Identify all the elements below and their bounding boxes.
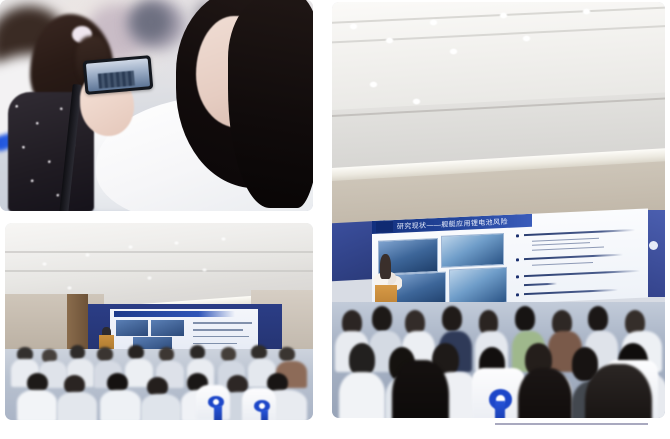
photo-collage: 研究现状——舰艇应用锂电池风险 xyxy=(0,0,670,439)
audience-head xyxy=(221,347,236,361)
chair-ribbon xyxy=(261,410,269,420)
ceiling-band-1 xyxy=(5,251,313,253)
foreground-attendee-head xyxy=(518,368,571,418)
slide-photo-warship-4 xyxy=(449,267,506,306)
photo-audience-filming[interactable] xyxy=(0,0,313,211)
audience-body xyxy=(100,390,140,420)
audience-head xyxy=(515,306,535,331)
downlight xyxy=(85,253,90,257)
photo-hall-slide[interactable]: 研究现状——舰艇应用锂电池风险 xyxy=(332,2,665,418)
ceiling-spotlight xyxy=(582,8,591,15)
bullet-marker xyxy=(516,234,519,237)
speaker-at-podium xyxy=(380,254,391,279)
background-head-c xyxy=(130,2,172,42)
slide-title-bar xyxy=(114,311,235,317)
audience-body xyxy=(141,394,181,420)
stage-decoration-dot xyxy=(649,241,658,250)
audience-head xyxy=(279,347,294,361)
audience-body xyxy=(57,392,97,420)
smartphone xyxy=(83,55,154,95)
audience-head xyxy=(372,306,392,331)
bullet-text-4 xyxy=(524,288,618,294)
audience-body xyxy=(17,390,57,420)
photo-hall-wide[interactable] xyxy=(5,223,313,420)
ceiling-spotlight xyxy=(349,23,358,30)
ceiling-spotlight xyxy=(369,81,378,88)
bottom-divider xyxy=(495,423,648,425)
phone-screen xyxy=(86,58,150,91)
scene-hall-wide xyxy=(5,223,313,420)
bullet-text-3 xyxy=(524,269,640,276)
slide-bullet-2 xyxy=(193,329,243,331)
downlight xyxy=(221,237,226,241)
slide-bullet-4 xyxy=(193,343,237,345)
bullet-subtext xyxy=(532,237,598,241)
slide-image-2 xyxy=(151,320,184,335)
slide-photo-warship-2 xyxy=(441,233,504,268)
bullet-subtext xyxy=(532,242,590,246)
bullet-marker xyxy=(516,275,519,278)
audience-head xyxy=(159,347,174,361)
audience-body xyxy=(339,372,386,418)
scene-audience-filming xyxy=(0,0,313,211)
slide-number xyxy=(376,221,393,232)
chair-ribbon xyxy=(495,401,505,418)
downlight xyxy=(128,245,133,249)
ceiling-spotlight xyxy=(412,98,421,105)
projected-slide: 研究现状——舰艇应用锂电池风险 xyxy=(372,208,648,310)
audience-head xyxy=(70,345,85,359)
bullet-subtext xyxy=(532,262,593,266)
bullet-marker xyxy=(516,293,519,296)
ceiling-spotlight xyxy=(449,48,458,55)
audience-head xyxy=(128,345,143,359)
ceiling-band-2 xyxy=(5,270,313,272)
foreground-attendee-head xyxy=(392,360,449,418)
ceiling-spotlight xyxy=(429,19,438,26)
bullet-marker xyxy=(516,258,519,261)
downlight xyxy=(67,286,72,290)
bullet-text-2 xyxy=(524,253,623,260)
slide-image-1 xyxy=(116,320,149,335)
slide-bullet-1 xyxy=(193,322,252,324)
foreground-attendee-head xyxy=(585,364,652,418)
bullet-text-3b xyxy=(524,282,557,286)
audience-head xyxy=(251,345,266,359)
downlight xyxy=(147,276,152,280)
audience-head xyxy=(190,345,205,359)
audience-head xyxy=(442,306,462,331)
scene-hall-slide: 研究现状——舰艇应用锂电池风险 xyxy=(332,2,665,418)
chair-ribbon xyxy=(214,406,222,420)
audience-head xyxy=(97,347,112,361)
bullet-text-1 xyxy=(524,229,635,236)
slide-bullet-3 xyxy=(193,336,249,338)
bullet-subtext xyxy=(532,246,604,250)
audience-head xyxy=(588,306,608,331)
